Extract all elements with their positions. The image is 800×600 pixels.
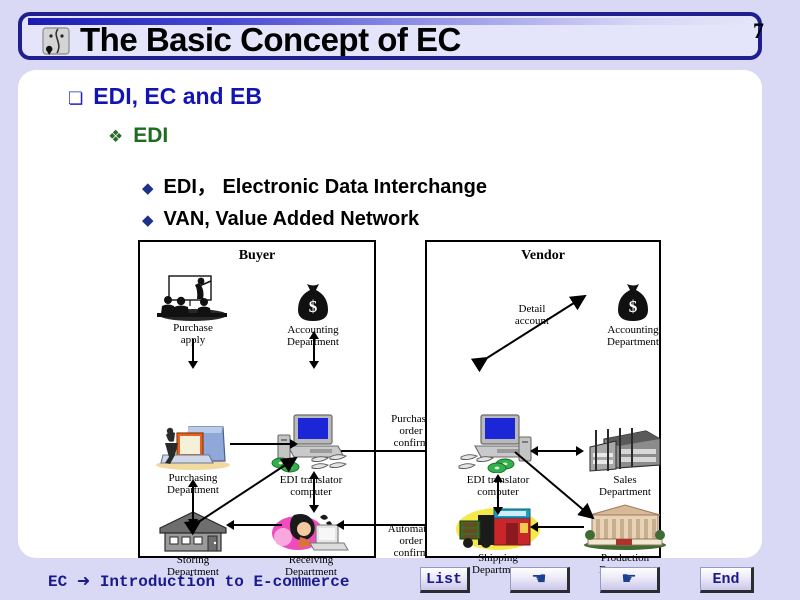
connector-edi-to-shipping xyxy=(497,478,499,510)
node-accounting-department-vendor-caption: AccountingDepartment xyxy=(588,324,678,348)
end-button[interactable]: End xyxy=(700,567,754,593)
slide-body-panel: ❏ EDI, EC and EB ❖ EDI ◆ EDI， Electronic… xyxy=(18,70,762,558)
finder-face-icon xyxy=(40,27,74,57)
connector-purchase-to-purchasing xyxy=(192,339,194,363)
svg-text:$: $ xyxy=(309,297,318,316)
meeting-presentation-icon xyxy=(148,273,238,321)
next-button[interactable]: ☛ xyxy=(600,567,660,593)
arrowhead-left xyxy=(530,446,538,456)
node-sales-department: SalesDepartment xyxy=(580,425,670,498)
node-receiving-department: ReceivingDepartment xyxy=(266,505,356,578)
desk-computer-icon xyxy=(148,423,238,471)
connector-purchasing-to-edi xyxy=(230,443,292,445)
label-detail-account: Detailaccount xyxy=(500,303,564,327)
connector-accounting-to-edi xyxy=(313,335,315,363)
connector-purchasing-to-storing xyxy=(192,483,194,521)
slide-title-bar: The Basic Concept of EC xyxy=(18,12,762,60)
arrowhead-left xyxy=(226,520,234,530)
arrowhead-up xyxy=(309,331,319,339)
vendor-panel-title: Vendor xyxy=(427,248,659,264)
connector-edi-to-receiving xyxy=(313,475,315,507)
node-edi-translator-computer-buyer: EDI translatorcomputer xyxy=(266,413,356,498)
arrowhead-right xyxy=(576,446,584,456)
office-building-icon xyxy=(580,425,670,473)
bullet-level1: ❏ EDI, EC and EB xyxy=(68,83,262,110)
arrowhead-left xyxy=(530,522,538,532)
node-production-department: ProductionDepartment xyxy=(580,503,670,576)
computer-cd-icon xyxy=(453,413,543,473)
bullet-level1-label: EDI, EC and EB xyxy=(93,83,262,110)
connector-edi-to-sales xyxy=(534,450,580,452)
footer-course-label: EC ➜ Introduction to E-commerce xyxy=(48,571,349,591)
list-button[interactable]: List xyxy=(420,567,470,593)
arrowhead-down xyxy=(188,519,198,527)
money-bag-icon: $ xyxy=(268,275,358,323)
money-bag-icon: $ xyxy=(588,275,678,323)
bullet-level2-label: EDI xyxy=(133,124,168,148)
bullet-level3-label: EDI， Electronic Data Interchange xyxy=(164,170,487,199)
arrowhead-down xyxy=(309,505,319,513)
arrowhead-up xyxy=(493,474,503,482)
hand-pointing-right-icon: ☛ xyxy=(621,571,636,588)
arrowhead-down xyxy=(309,361,319,369)
edi-flow-diagram: Buyer xyxy=(18,235,762,560)
filled-diamond-bullet-icon: ◆ xyxy=(142,211,154,229)
node-purchase-apply: Purchaseapply xyxy=(148,273,238,346)
svg-text:$: $ xyxy=(629,297,638,316)
buyer-panel-title: Buyer xyxy=(140,248,374,264)
diamond-petal-bullet-icon: ❖ xyxy=(108,127,123,147)
arrowhead-right xyxy=(290,439,298,449)
footer-course-prefix: EC xyxy=(48,573,67,591)
bullet-level3-van: ◆ VAN, Value Added Network xyxy=(142,208,419,231)
arrowhead-down xyxy=(493,507,503,515)
hand-pointing-left-icon: ☚ xyxy=(531,571,546,588)
bullet-level3-label: VAN, Value Added Network xyxy=(164,208,420,231)
previous-button[interactable]: ☚ xyxy=(510,567,570,593)
arrowhead-left xyxy=(336,520,344,530)
page-number: 7 xyxy=(753,18,764,44)
connector-receiving-to-storing xyxy=(230,524,282,526)
node-sales-department-caption: SalesDepartment xyxy=(580,474,670,498)
filled-diamond-bullet-icon: ◆ xyxy=(142,179,154,197)
arrowhead-down xyxy=(188,361,198,369)
node-accounting-department-vendor: $ AccountingDepartment xyxy=(588,275,678,348)
bullet-level3-edi: ◆ EDI， Electronic Data Interchange xyxy=(142,170,487,199)
footer-course-title: Introduction to E-commerce xyxy=(100,573,350,591)
arrowhead-up xyxy=(188,479,198,487)
page-title: The Basic Concept of EC xyxy=(80,18,461,60)
arrowhead-up xyxy=(309,471,319,479)
arrow-right-icon: ➜ xyxy=(77,571,90,590)
hollow-square-bullet-icon: ❏ xyxy=(68,89,83,109)
bullet-level2: ❖ EDI xyxy=(108,124,168,148)
factory-building-icon xyxy=(580,503,670,551)
connector-production-to-shipping xyxy=(536,526,584,528)
